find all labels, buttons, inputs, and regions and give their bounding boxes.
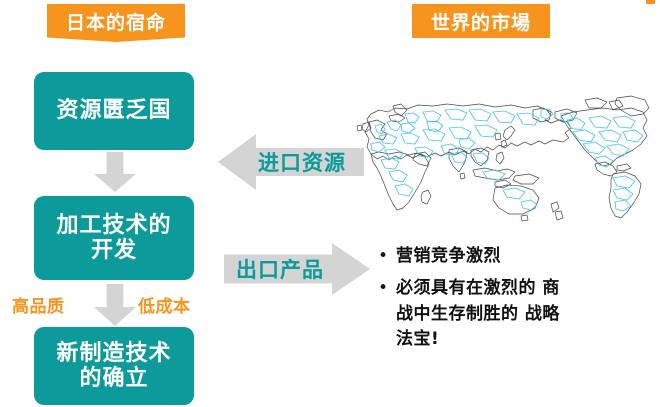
bullet-2-line-2: 战中生存制胜的 战略 — [396, 304, 560, 324]
bullet-text: 必须具有在激烈的 商 战中生存制胜的 战略 法宝! — [396, 276, 560, 353]
process-box-1-label: 资源匮乏国 — [56, 98, 171, 123]
bullet-2-line-1: 必须具有在激烈的 商 — [396, 278, 560, 298]
bullet-2-line-3: 法宝! — [396, 329, 439, 349]
corner-mark-icon — [646, 0, 655, 4]
world-map-graphic — [355, 92, 655, 222]
flow-arrow-export-label: 出口产品 — [236, 254, 324, 284]
flow-arrow-import-label: 进口资源 — [258, 147, 346, 177]
flow-arrow-export-products: 出口产品 — [224, 243, 370, 295]
process-box-3-line2: 的确立 — [79, 366, 148, 391]
bullet-list: • 营销竞争激烈 • 必须具有在激烈的 商 战中生存制胜的 战略 法宝! — [374, 244, 654, 359]
process-box-new-manufacturing-technology: 新制造技术 的确立 — [34, 327, 194, 405]
process-box-resource-poor-country: 资源匮乏国 — [34, 72, 194, 150]
bullet-1-line-1: 营销竞争激烈 — [396, 246, 501, 266]
flow-arrow-import-resources: 进口资源 — [218, 134, 364, 190]
banner-japan-destiny: 日本的宿命 — [47, 4, 185, 42]
process-box-3-line1: 新制造技术 — [56, 341, 171, 366]
process-box-2-line2: 开发 — [91, 238, 137, 263]
banner-world-market: 世界的市場 — [412, 4, 550, 38]
slide-canvas: 日本的宿命 世界的市場 资源匮乏国 加工技术的 开发 新制造技术 的确立 高品质… — [0, 0, 660, 407]
label-high-quality: 高品质 — [12, 292, 65, 317]
bullet-text: 营销竞争激烈 — [396, 244, 501, 270]
down-arrow-icon — [94, 284, 136, 326]
label-low-cost: 低成本 — [138, 292, 191, 317]
process-box-3-label: 新制造技术 的确立 — [56, 341, 171, 392]
list-item: • 营销竞争激烈 — [374, 244, 654, 270]
process-box-2-line1: 加工技术的 — [56, 213, 171, 238]
process-box-processing-technology-development: 加工技术的 开发 — [34, 196, 194, 280]
down-arrow-icon — [94, 152, 136, 192]
bullet-icon: • — [374, 244, 396, 269]
list-item: • 必须具有在激烈的 商 战中生存制胜的 战略 法宝! — [374, 276, 654, 353]
process-box-2-label: 加工技术的 开发 — [56, 213, 171, 264]
bullet-icon: • — [374, 276, 396, 301]
